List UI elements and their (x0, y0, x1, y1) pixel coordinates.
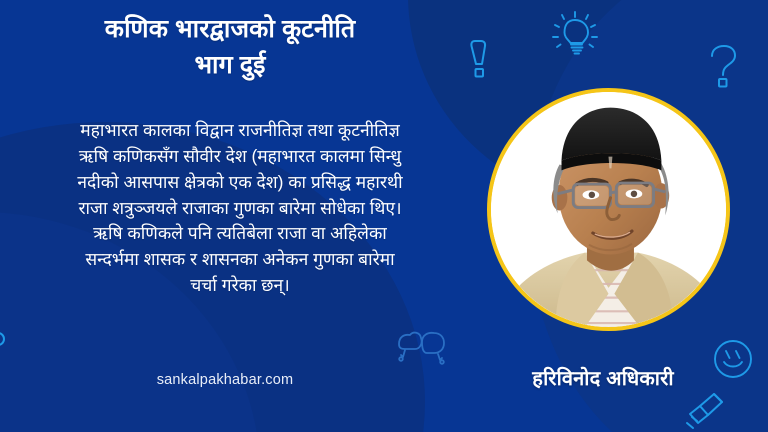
author-portrait-frame (487, 88, 730, 331)
title-line-1: कणिक भारद्वाजको कूटनीति (0, 12, 460, 48)
body-line-6: सन्दर्भमा शासक र शासनका अनेकन गुणका बारे… (4, 247, 476, 273)
author-name: हरिविनोद अधिकारी (478, 364, 728, 391)
avatar (491, 92, 726, 327)
body-line-2: ऋषि कणिकसँग सौवीर देश (महाभारत कालमा सिन… (4, 144, 476, 170)
poster-canvas: कणिक भारद्वाजको कूटनीति भाग दुई महाभारत … (0, 0, 768, 432)
body-line-1: महाभारत कालका विद्वान राजनीतिज्ञ तथा कूट… (4, 118, 476, 144)
body-line-7: चर्चा गरेका छन्। (4, 273, 476, 299)
poster-body-text: महाभारत कालका विद्वान राजनीतिज्ञ तथा कूट… (4, 118, 476, 299)
title-line-2: भाग दुई (0, 48, 460, 84)
body-line-3: नदीको आसपास क्षेत्रको एक देश) का प्रसिद्… (4, 170, 476, 196)
website-url[interactable]: sankalpakhabar.com (0, 372, 450, 388)
body-line-5: ऋषि कणिकले पनि त्यतिबेला राजा वा अहिलेका (4, 221, 476, 247)
body-line-4: राजा शत्रुञ्जयले राजाका गुणका बारेमा सोध… (4, 196, 476, 222)
poster-title: कणिक भारद्वाजको कूटनीति भाग दुई (0, 12, 460, 83)
